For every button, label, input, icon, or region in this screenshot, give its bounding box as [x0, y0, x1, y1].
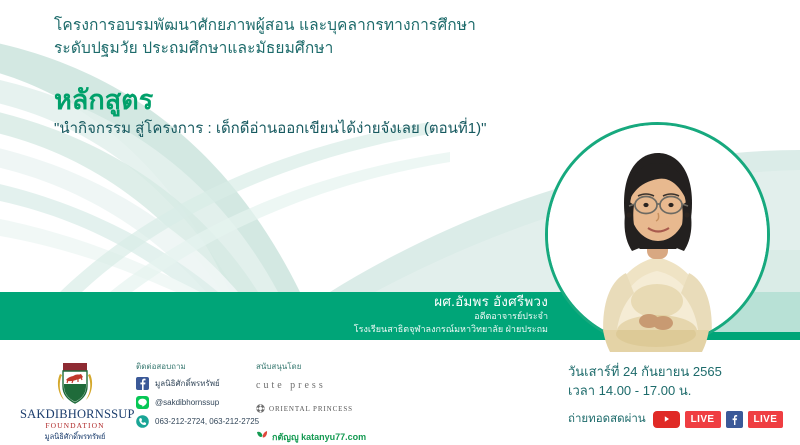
- flower-emblem-icon: [256, 400, 265, 418]
- foundation-sub: FOUNDATION: [20, 421, 130, 431]
- broadcast-label: ถ่ายทอดสดผ่าน: [568, 410, 646, 428]
- contact-row-line[interactable]: @sakdibhornssup: [136, 396, 256, 409]
- contact-row-phone[interactable]: 063-212-2724, 063-212-2725: [136, 415, 256, 428]
- sponsor-katanyu: กตัญญู katanyu77.com: [256, 428, 406, 445]
- broadcast-row: ถ่ายทอดสดผ่าน LIVE LIVE: [568, 410, 793, 428]
- speaker-caption: ผศ.อัมพร อังศรีพวง อดีตอาจารย์ประจำ โรงเ…: [300, 293, 548, 336]
- oriental-princess-text: ORIENTAL PRINCESS: [269, 405, 353, 413]
- schedule-block: วันเสาร์ที่ 24 กันยายน 2565 เวลา 14.00 -…: [568, 362, 793, 428]
- katanyu-text: กตัญญู katanyu77.com: [272, 430, 366, 444]
- contact-facebook-text: มูลนิธิศักดิ์พรทรัพย์: [155, 377, 220, 390]
- contact-heading: ติดต่อสอบถาม: [136, 360, 256, 373]
- foundation-logo: SAKDIBHORNSSUP FOUNDATION มูลนิธิศักดิ์พ…: [20, 358, 130, 442]
- sponsor-block: สนับสนุนโดย cute press ORIENTAL PRINCESS: [256, 360, 406, 445]
- contact-phone-text: 063-212-2724, 063-212-2725: [155, 417, 259, 426]
- speaker-name: ผศ.อัมพร อังศรีพวง: [300, 293, 548, 310]
- course-title: "นำกิจกรรม สู่โครงการ : เด็กดีอ่านออกเขี…: [54, 118, 524, 140]
- footer: SAKDIBHORNSSUP FOUNDATION มูลนิธิศักดิ์พ…: [0, 352, 800, 445]
- program-line-2: ระดับปฐมวัย ประถมศึกษาและมัธยมศึกษา: [54, 37, 524, 60]
- foundation-name: SAKDIBHORNSSUP: [20, 407, 130, 421]
- youtube-live-badge[interactable]: LIVE: [685, 411, 721, 428]
- sponsor-oriental-princess: ORIENTAL PRINCESS: [256, 400, 406, 418]
- headline-block: โครงการอบรมพัฒนาศักยภาพผู้สอน และบุคลากร…: [54, 14, 524, 140]
- facebook-f-icon[interactable]: [726, 411, 743, 428]
- contact-block: ติดต่อสอบถาม มูลนิธิศักดิ์พรทรัพย์: [136, 360, 256, 434]
- portrait-illustration: [548, 125, 767, 344]
- shield-crest-horse-icon: [52, 358, 98, 406]
- event-time: เวลา 14.00 - 17.00 น.: [568, 381, 793, 400]
- speaker-portrait: [545, 122, 770, 347]
- line-icon: [136, 396, 149, 409]
- youtube-play-icon[interactable]: [653, 411, 680, 428]
- contact-row-facebook[interactable]: มูลนิธิศักดิ์พรทรัพย์: [136, 377, 256, 390]
- speaker-role: อดีตอาจารย์ประจำ: [300, 310, 548, 323]
- sponsor-cute-press: cute press: [256, 380, 406, 391]
- event-date: วันเสาร์ที่ 24 กันยายน 2565: [568, 362, 793, 381]
- portrait-ring: [545, 122, 770, 347]
- program-line-1: โครงการอบรมพัฒนาศักยภาพผู้สอน และบุคลากร…: [54, 14, 524, 37]
- contact-line-text: @sakdibhornssup: [155, 398, 219, 407]
- facebook-icon: [136, 377, 149, 390]
- sponsor-heading: สนับสนุนโดย: [256, 360, 406, 373]
- foundation-thai-name: มูลนิธิศักดิ์พรทรัพย์: [20, 431, 130, 442]
- event-poster: โครงการอบรมพัฒนาศักยภาพผู้สอน และบุคลากร…: [0, 0, 800, 445]
- course-label: หลักสูตร: [54, 84, 524, 116]
- katanyu-leaf-icon: [256, 428, 268, 445]
- facebook-live-badge[interactable]: LIVE: [748, 411, 784, 428]
- speaker-organization: โรงเรียนสาธิตจุฬาลงกรณ์มหาวิทยาลัย ฝ่ายป…: [300, 323, 548, 336]
- phone-icon: [136, 415, 149, 428]
